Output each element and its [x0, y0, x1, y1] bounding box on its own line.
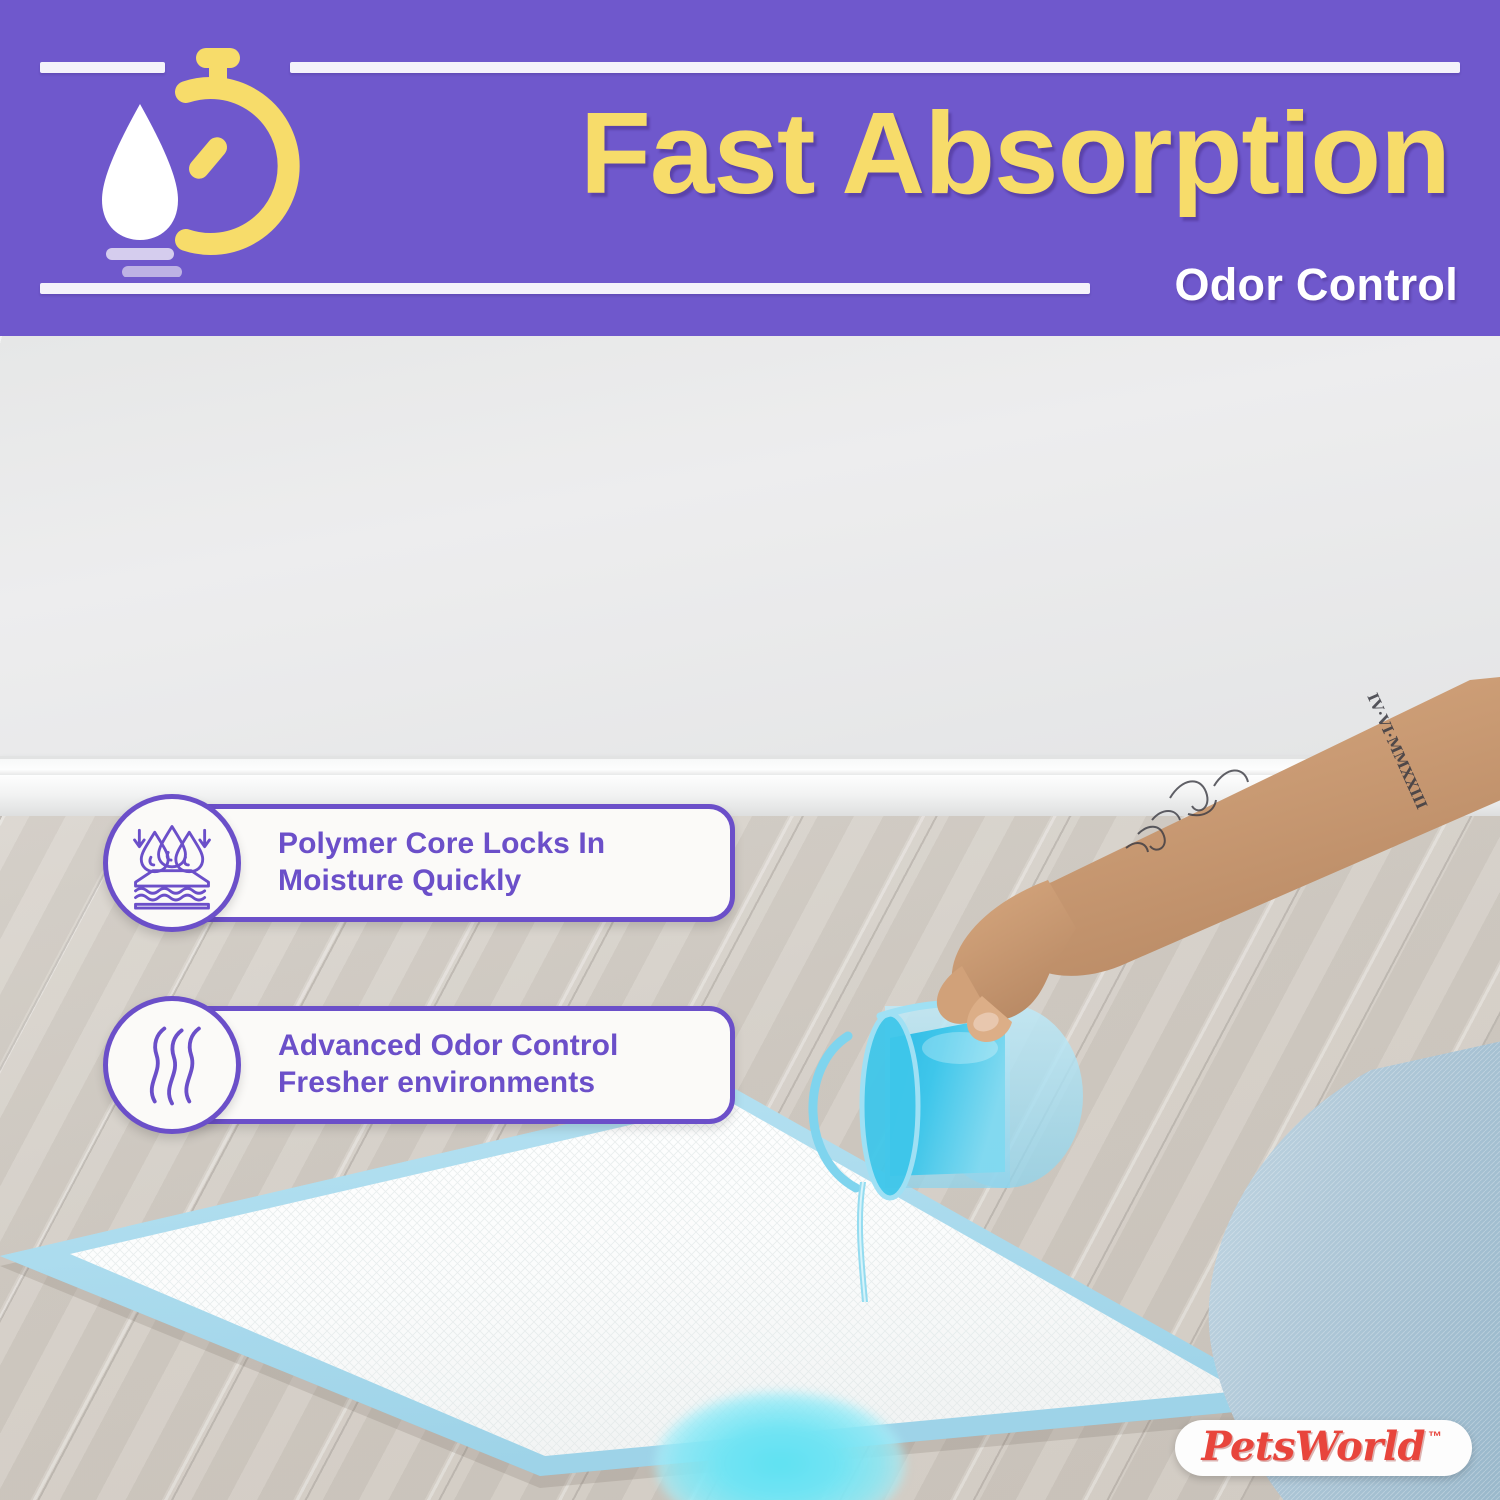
feature-text: Polymer Core Locks In Moisture Quickly	[278, 826, 605, 900]
odor-waves-icon	[103, 996, 241, 1134]
header-rule-bottom	[40, 283, 1090, 294]
feature-line-2: Moisture Quickly	[278, 863, 605, 900]
feature-line-2: Fresher environments	[278, 1065, 618, 1102]
page-subtitle: Odor Control	[1174, 262, 1458, 307]
header-banner: Fast Absorption Odor Control	[0, 0, 1500, 336]
feature-pill: Polymer Core Locks In Moisture Quickly	[165, 804, 735, 922]
feature-line-1: Advanced Odor Control	[278, 1028, 618, 1065]
product-photo: IV·VI·MMXXIII	[0, 336, 1500, 1500]
product-infographic: Fast Absorption Odor Control	[0, 0, 1500, 1500]
brand-name: PetsWorld	[1201, 1427, 1425, 1467]
feature-pill: Advanced Odor Control Fresher environmen…	[165, 1006, 735, 1124]
trademark-symbol: ™	[1428, 1429, 1442, 1443]
feature-text: Advanced Odor Control Fresher environmen…	[278, 1028, 618, 1102]
page-title: Fast Absorption	[380, 95, 1450, 211]
water-drop-stopwatch-icon	[78, 42, 308, 277]
brand-logo: PetsWorld ™	[1175, 1420, 1472, 1476]
pouring-liquid-stream	[845, 1182, 885, 1302]
feature-line-1: Polymer Core Locks In	[278, 826, 605, 863]
hand-and-arm: IV·VI·MMXXIII	[870, 666, 1500, 1086]
absorbent-layers-icon	[103, 794, 241, 932]
header-rule-top-right	[290, 62, 1460, 73]
